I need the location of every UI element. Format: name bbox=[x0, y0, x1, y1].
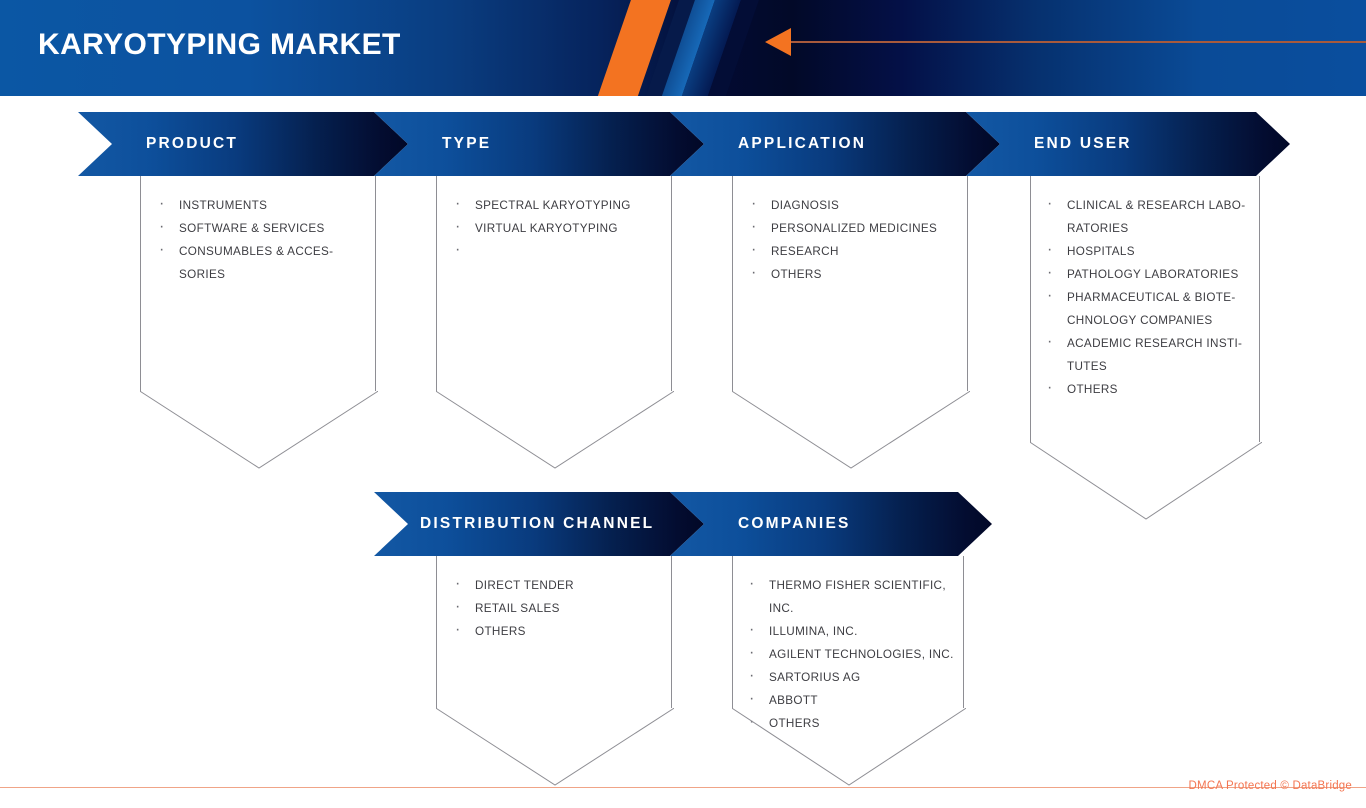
card-header-end-user[interactable]: END USER bbox=[966, 112, 1290, 176]
card-tip-application bbox=[732, 391, 968, 469]
page-title: KARYOTYPING MARKET bbox=[38, 28, 401, 62]
banner-bottom-edge bbox=[0, 96, 1366, 100]
card-body-product: INSTRUMENTS SOFTWARE & SERVICES CONSUMAB… bbox=[140, 176, 376, 391]
card-title-type: TYPE bbox=[442, 135, 491, 153]
list-item: RESEARCH bbox=[749, 240, 959, 263]
list-item: PERSONALIZED MEDICINES bbox=[749, 217, 959, 240]
card-title-product: PRODUCT bbox=[146, 135, 238, 153]
list-item: PATHOLOGY LABORATORIES bbox=[1045, 263, 1251, 286]
card-tip-product bbox=[140, 391, 376, 469]
bullet-list-end-user: CLINICAL & RESEARCH LABO-RATORIES HOSPIT… bbox=[1045, 194, 1251, 401]
list-item: OTHERS bbox=[1045, 378, 1251, 401]
list-item: CONSUMABLES & ACCES-SORIES bbox=[157, 240, 367, 286]
list-item: INSTRUMENTS bbox=[157, 194, 367, 217]
bullet-list-type: SPECTRAL KARYOTYPING VIRTUAL KARYOTYPING bbox=[453, 194, 663, 240]
bullet-list-application: DIAGNOSIS PERSONALIZED MEDICINES RESEARC… bbox=[749, 194, 959, 286]
banner-horizontal-rule bbox=[790, 41, 1366, 43]
footer-copyright: DMCA Protected © DataBridge bbox=[1189, 780, 1352, 792]
card-header-application[interactable]: APPLICATION bbox=[670, 112, 1000, 176]
list-item: DIRECT TENDER bbox=[453, 574, 663, 597]
card-tip-type bbox=[436, 391, 672, 469]
list-item: OTHERS bbox=[749, 263, 959, 286]
card-header-product[interactable]: PRODUCT bbox=[78, 112, 408, 176]
list-item: OTHERS bbox=[453, 620, 663, 643]
card-header-companies[interactable]: COMPANIES bbox=[670, 492, 992, 556]
footer-divider bbox=[0, 787, 1366, 788]
card-title-distribution-channel: DISTRIBUTION CHANNEL bbox=[420, 515, 654, 533]
left-arrow-icon bbox=[765, 28, 791, 56]
card-body-type: SPECTRAL KARYOTYPING VIRTUAL KARYOTYPING bbox=[436, 176, 672, 391]
list-item: AGILENT TECHNOLOGIES, INC. bbox=[747, 643, 955, 666]
list-item: ACADEMIC RESEARCH INSTI-TUTES bbox=[1045, 332, 1251, 378]
list-item: SPECTRAL KARYOTYPING bbox=[453, 194, 663, 217]
card-tip-end-user bbox=[1030, 442, 1260, 520]
card-title-end-user: END USER bbox=[1034, 135, 1132, 153]
list-item: VIRTUAL KARYOTYPING bbox=[453, 217, 663, 240]
list-item: CLINICAL & RESEARCH LABO-RATORIES bbox=[1045, 194, 1251, 240]
list-item: SOFTWARE & SERVICES bbox=[157, 217, 367, 240]
card-body-distribution-channel: DIRECT TENDER RETAIL SALES OTHERS bbox=[436, 556, 672, 708]
card-title-companies: COMPANIES bbox=[738, 515, 851, 533]
card-header-type[interactable]: TYPE bbox=[374, 112, 704, 176]
list-item: SARTORIUS AG bbox=[747, 666, 955, 689]
list-item: THERMO FISHER SCIENTIFIC, INC. bbox=[747, 574, 955, 620]
card-body-companies: THERMO FISHER SCIENTIFIC, INC. ILLUMINA,… bbox=[732, 556, 964, 708]
list-item: HOSPITALS bbox=[1045, 240, 1251, 263]
page-banner: KARYOTYPING MARKET bbox=[0, 0, 1366, 96]
bullet-list-distribution-channel: DIRECT TENDER RETAIL SALES OTHERS bbox=[453, 574, 663, 643]
card-body-end-user: CLINICAL & RESEARCH LABO-RATORIES HOSPIT… bbox=[1030, 176, 1260, 442]
list-item: PHARMACEUTICAL & BIOTE-CHNOLOGY COMPANIE… bbox=[1045, 286, 1251, 332]
infographic-page: KARYOTYPING MARKET PRODUCT INSTRUMENTS S… bbox=[0, 0, 1366, 808]
card-header-distribution-channel[interactable]: DISTRIBUTION CHANNEL bbox=[374, 492, 704, 556]
list-item: ILLUMINA, INC. bbox=[747, 620, 955, 643]
card-title-application: APPLICATION bbox=[738, 135, 866, 153]
card-tip-distribution-channel bbox=[436, 708, 672, 786]
card-tip-companies bbox=[732, 708, 964, 786]
bullet-list-product: INSTRUMENTS SOFTWARE & SERVICES CONSUMAB… bbox=[157, 194, 367, 286]
list-item: RETAIL SALES bbox=[453, 597, 663, 620]
list-item: DIAGNOSIS bbox=[749, 194, 959, 217]
card-body-application: DIAGNOSIS PERSONALIZED MEDICINES RESEARC… bbox=[732, 176, 968, 391]
